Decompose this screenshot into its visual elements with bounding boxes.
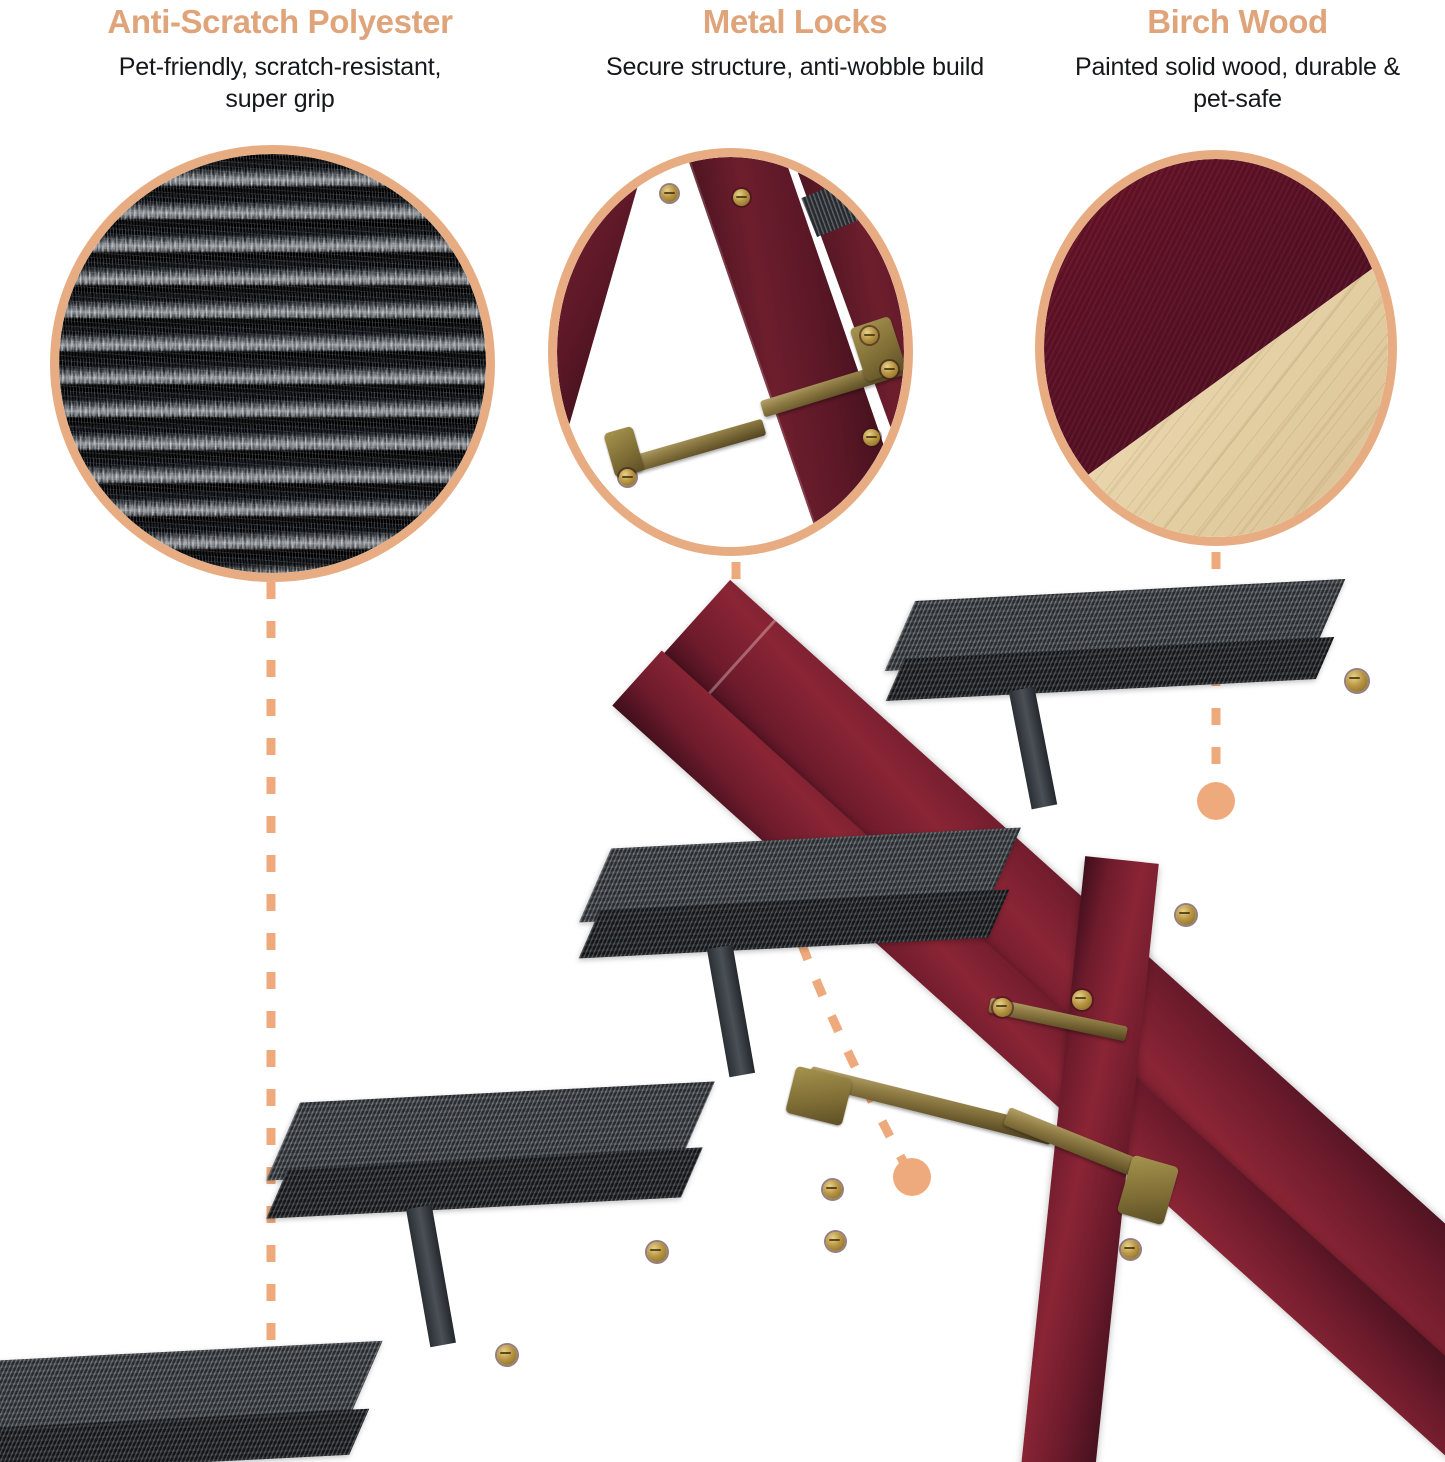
screw-icon <box>1346 670 1368 692</box>
carpet-texture-image <box>59 154 486 573</box>
stair-step-2-post <box>707 945 755 1078</box>
screw-icon <box>1176 905 1196 925</box>
stair-step-3-post <box>406 1205 456 1347</box>
screw-icon <box>647 1242 667 1262</box>
carpet-fiber-highlights <box>59 154 486 573</box>
screw-icon <box>993 998 1012 1017</box>
screw-icon <box>861 327 878 344</box>
wood-split-sample <box>1044 159 1388 537</box>
product-photo-folding-pet-stairs <box>0 560 1445 1462</box>
screw-icon <box>863 429 880 446</box>
metal-lock-image <box>557 157 904 547</box>
stair-step-top-post <box>1009 687 1057 810</box>
feature-column-metal-locks: Metal Locks Secure structure, anti-wobbl… <box>560 0 1030 83</box>
screw-icon <box>1121 1240 1140 1259</box>
feature-description: Pet-friendly, scratch-resistant, super g… <box>0 51 560 116</box>
feature-title: Birch Wood <box>1030 4 1445 41</box>
screw-icon <box>619 469 636 486</box>
screw-icon <box>661 185 678 202</box>
feature-description: Secure structure, anti-wobble build <box>560 51 1030 84</box>
birch-wood-image <box>1044 159 1388 537</box>
callout-circle-birch-wood <box>1035 150 1397 546</box>
feature-title: Anti-Scratch Polyester <box>0 4 560 41</box>
callout-circle-carpet-texture <box>50 145 495 582</box>
screw-icon <box>826 1232 845 1251</box>
callout-circle-metal-lock <box>548 148 913 556</box>
feature-header-row: Anti-Scratch Polyester Pet-friendly, scr… <box>0 0 1445 140</box>
feature-column-birch-wood: Birch Wood Painted solid wood, durable &… <box>1030 0 1445 116</box>
screw-icon <box>733 189 750 206</box>
feature-description: Painted solid wood, durable & pet-safe <box>1030 51 1445 116</box>
screw-icon <box>1072 990 1092 1010</box>
feature-title: Metal Locks <box>560 4 1030 41</box>
screw-icon <box>497 1345 517 1365</box>
screw-icon <box>823 1180 842 1199</box>
feature-column-anti-scratch-polyester: Anti-Scratch Polyester Pet-friendly, scr… <box>0 0 560 116</box>
screw-icon <box>881 361 898 378</box>
